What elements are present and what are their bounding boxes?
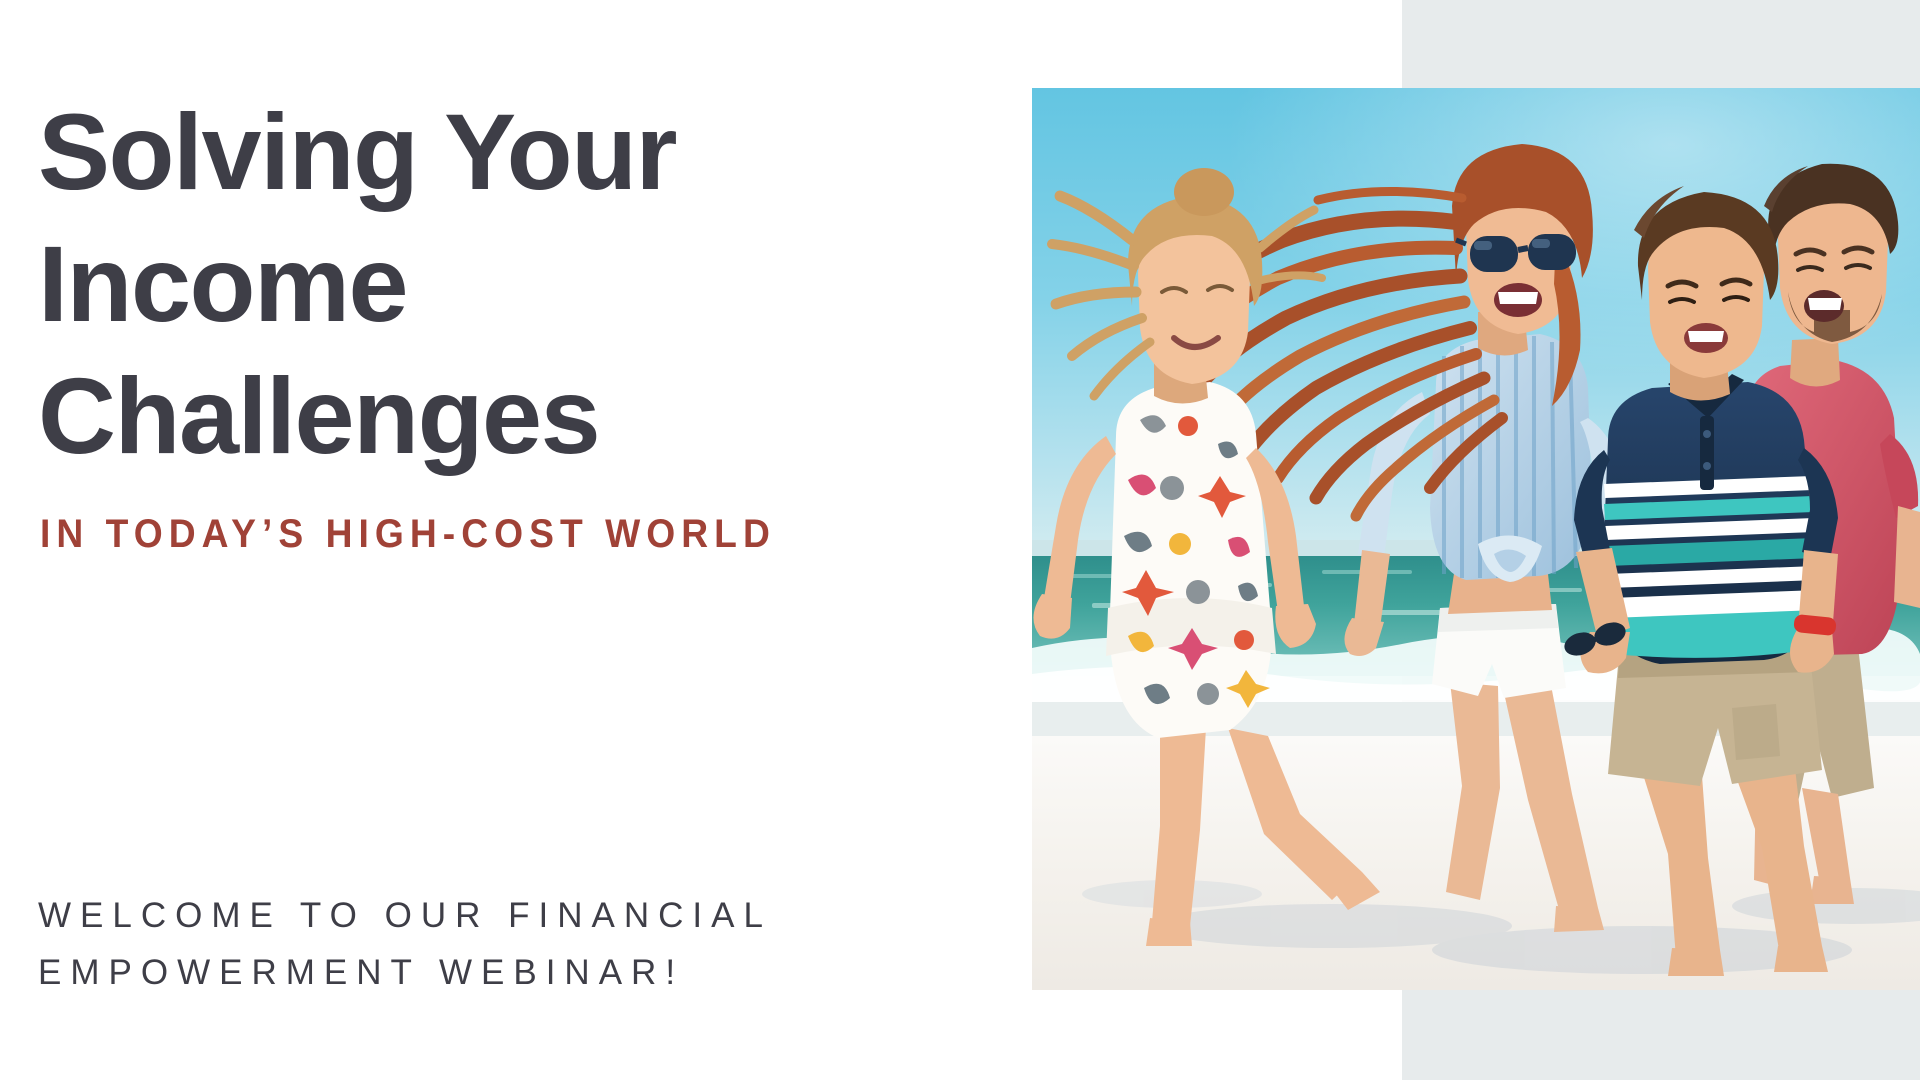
hero-photo: [1032, 88, 1920, 990]
title-slide: Solving Your Income Challenges IN TODAY’…: [0, 0, 1920, 1080]
welcome-message: WELCOME TO OUR FINANCIAL EMPOWERMENT WEB…: [38, 888, 988, 1001]
welcome-line-1: WELCOME TO OUR FINANCIAL: [38, 888, 988, 945]
subtitle-kicker: IN TODAY’S HIGH-COST WORLD: [40, 512, 776, 557]
beach-family-illustration: [1032, 88, 1920, 990]
page-title: Solving Your Income Challenges: [38, 86, 998, 481]
welcome-line-2: EMPOWERMENT WEBINAR!: [38, 945, 988, 1002]
headline-line-1: Solving Your: [38, 86, 998, 218]
text-column: Solving Your Income Challenges IN TODAY’…: [38, 0, 1018, 1080]
headline-line-2: Income: [38, 218, 998, 350]
headline-line-3: Challenges: [38, 350, 998, 482]
